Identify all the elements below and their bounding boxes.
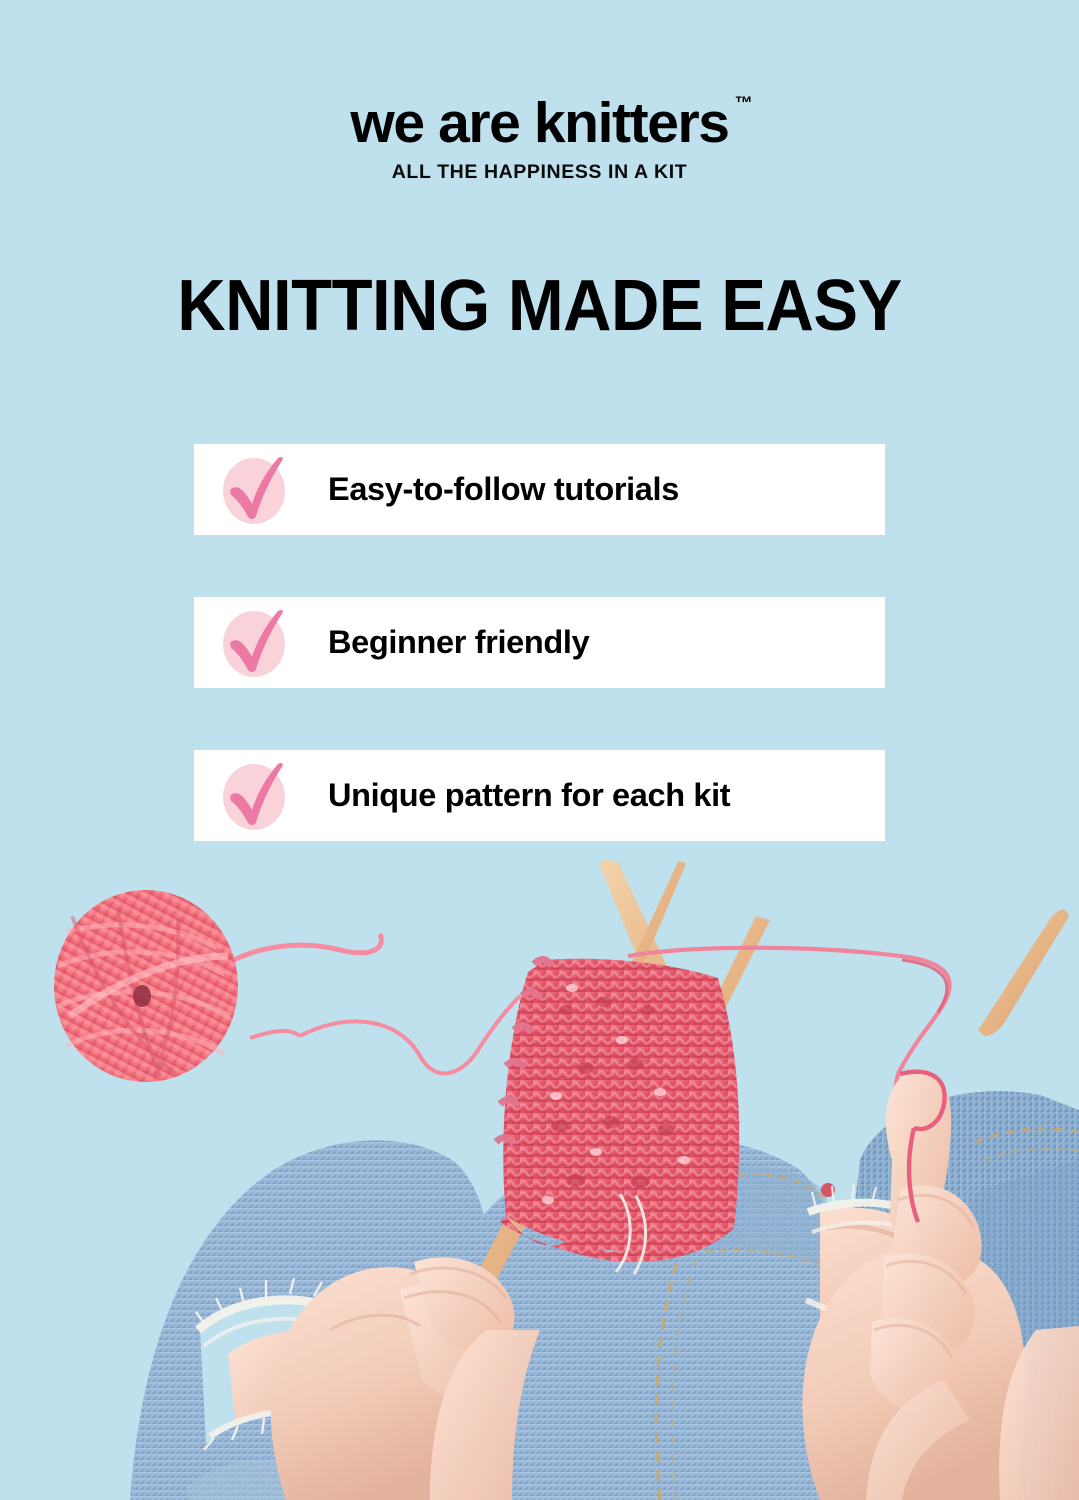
brand-block: we are knitters™ ALL THE HAPPINESS IN A … — [0, 92, 1079, 184]
poster-canvas: we are knitters™ ALL THE HAPPINESS IN A … — [0, 0, 1079, 1500]
page-title: KNITTING MADE EASY — [38, 268, 1041, 344]
feature-label: Unique pattern for each kit — [328, 777, 730, 814]
brand-logo-text: we are knitters™ — [350, 92, 728, 154]
feature-label: Beginner friendly — [328, 624, 589, 661]
feature-card-beginner[interactable]: Beginner friendly — [194, 597, 885, 688]
yarn-ball — [54, 890, 238, 1082]
feature-label: Easy-to-follow tutorials — [328, 471, 679, 508]
brand-tagline: ALL THE HAPPINESS IN A KIT — [0, 161, 1079, 184]
trademark-icon: ™ — [735, 94, 753, 112]
feature-card-pattern[interactable]: Unique pattern for each kit — [194, 750, 885, 841]
feature-card-tutorials[interactable]: Easy-to-follow tutorials — [194, 444, 885, 535]
check-mark-icon — [220, 454, 292, 526]
brand-name-label: we are knitters — [350, 91, 728, 155]
check-mark-icon — [220, 760, 292, 832]
hero-photo — [0, 860, 1079, 1500]
check-mark-icon — [220, 607, 292, 679]
knitted-fabric — [496, 959, 739, 1262]
feature-list: Easy-to-follow tutorials Beginner friend… — [194, 444, 885, 841]
